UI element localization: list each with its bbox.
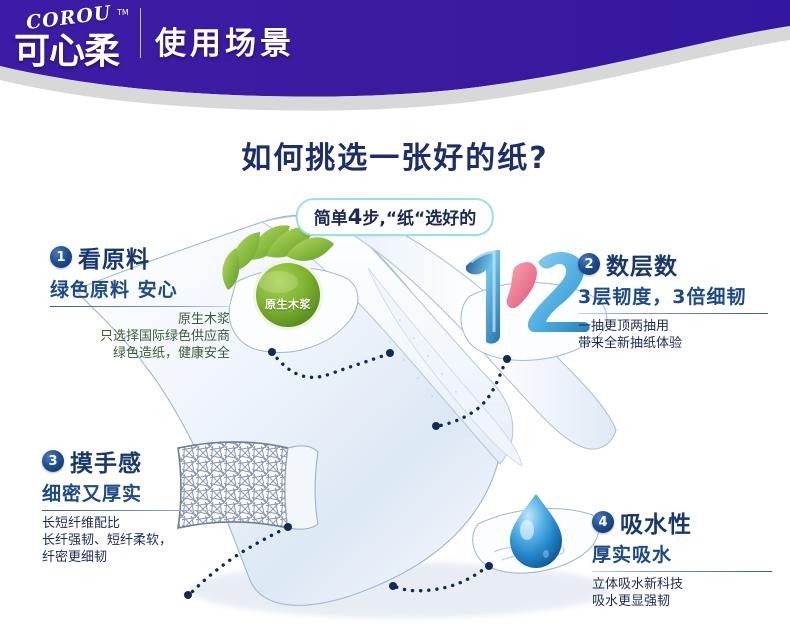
feature-block-3: 3 摸手感 细密又厚实 长短纤维配比 长纤强韧、短纤柔软， 纤密更细韧 bbox=[42, 444, 222, 566]
feature-4-line-1: 立体吸水新科技 bbox=[592, 576, 772, 593]
feature-4-body: 立体吸水新科技 吸水更显强韧 bbox=[592, 576, 772, 610]
feature-1-line-1: 原生木浆 bbox=[50, 311, 230, 328]
feature-3-line-2: 长纤强韧、短纤柔软， bbox=[42, 532, 222, 549]
feature-3-body: 长短纤维配比 长纤强韧、短纤柔软， 纤密更细韧 bbox=[42, 515, 222, 566]
brand-logo: COROU TM 可心柔 bbox=[12, 6, 134, 64]
feature-1-line-3: 绿色造纸，健康安全 bbox=[50, 345, 230, 362]
feature-2-rule bbox=[578, 313, 768, 314]
feature-2-line-2: 带来全新抽纸体验 bbox=[578, 335, 768, 352]
feature-3-heading: 摸手感 bbox=[70, 444, 142, 478]
feature-3-number-badge: 3 bbox=[42, 450, 64, 472]
subtitle-pill: 简单4步,“纸“选好的 bbox=[296, 198, 494, 236]
feature-block-2: 2 数层数 3层韧度，3倍细韧 一抽更顶两抽用 带来全新抽纸体验 bbox=[578, 247, 768, 352]
brand-chinese-text: 可心柔 bbox=[14, 22, 119, 74]
feature-2-body: 一抽更顶两抽用 带来全新抽纸体验 bbox=[578, 318, 768, 352]
leaf-badge-label: 原生木浆 bbox=[256, 296, 320, 312]
feature-4-heading: 吸水性 bbox=[620, 505, 692, 539]
water-drop-icon bbox=[510, 494, 562, 568]
page-header: COROU TM 可心柔 使用场景 bbox=[0, 0, 790, 112]
feature-3-rule bbox=[42, 510, 222, 511]
feature-1-subheading: 绿色原料 安心 bbox=[50, 275, 230, 302]
feature-2-heading: 数层数 bbox=[606, 247, 678, 281]
feature-2-subheading: 3层韧度，3倍细韧 bbox=[578, 282, 768, 309]
promo-page: COROU TM 可心柔 使用场景 如何挑选一张好的纸? 简单4步,“纸“选好的 bbox=[0, 0, 790, 631]
feature-4-line-2: 吸水更显强韧 bbox=[592, 593, 772, 610]
feature-block-4: 4 吸水性 厚实吸水 立体吸水新科技 吸水更显强韧 bbox=[592, 505, 772, 610]
feature-4-rule bbox=[592, 571, 772, 572]
feature-1-body: 原生木浆 只选择国际绿色供应商 绿色造纸，健康安全 bbox=[50, 311, 230, 362]
header-title: 使用场景 bbox=[155, 18, 295, 63]
feature-3-line-1: 长短纤维配比 bbox=[42, 515, 222, 532]
feature-block-1: 1 看原料 绿色原料 安心 原生木浆 只选择国际绿色供应商 绿色造纸，健康安全 bbox=[50, 240, 230, 362]
feature-1-head: 1 看原料 bbox=[50, 240, 230, 274]
feature-2-line-1: 一抽更顶两抽用 bbox=[578, 318, 768, 335]
subtitle-number: 4 bbox=[348, 205, 363, 229]
trademark-icon: TM bbox=[117, 8, 129, 17]
feature-3-subheading: 细密又厚实 bbox=[42, 479, 222, 506]
water-absorption-illustration bbox=[473, 494, 599, 573]
feature-4-number-badge: 4 bbox=[592, 511, 614, 533]
feature-4-head: 4 吸水性 bbox=[592, 505, 772, 539]
feature-1-number-badge: 1 bbox=[50, 246, 72, 268]
feature-3-head: 3 摸手感 bbox=[42, 444, 222, 478]
feature-1-line-2: 只选择国际绿色供应商 bbox=[50, 328, 230, 345]
feature-1-heading: 看原料 bbox=[78, 240, 150, 274]
feature-2-number-badge: 2 bbox=[578, 253, 600, 275]
feature-2-head: 2 数层数 bbox=[578, 247, 768, 281]
subtitle-prefix: 简单 bbox=[314, 209, 348, 229]
feature-4-subheading: 厚实吸水 bbox=[592, 540, 772, 567]
subtitle-suffix: 步,“纸“选好的 bbox=[362, 209, 476, 229]
feature-1-rule bbox=[50, 306, 230, 307]
header-divider bbox=[140, 8, 141, 58]
feature-3-line-3: 纤密更细韧 bbox=[42, 549, 222, 566]
